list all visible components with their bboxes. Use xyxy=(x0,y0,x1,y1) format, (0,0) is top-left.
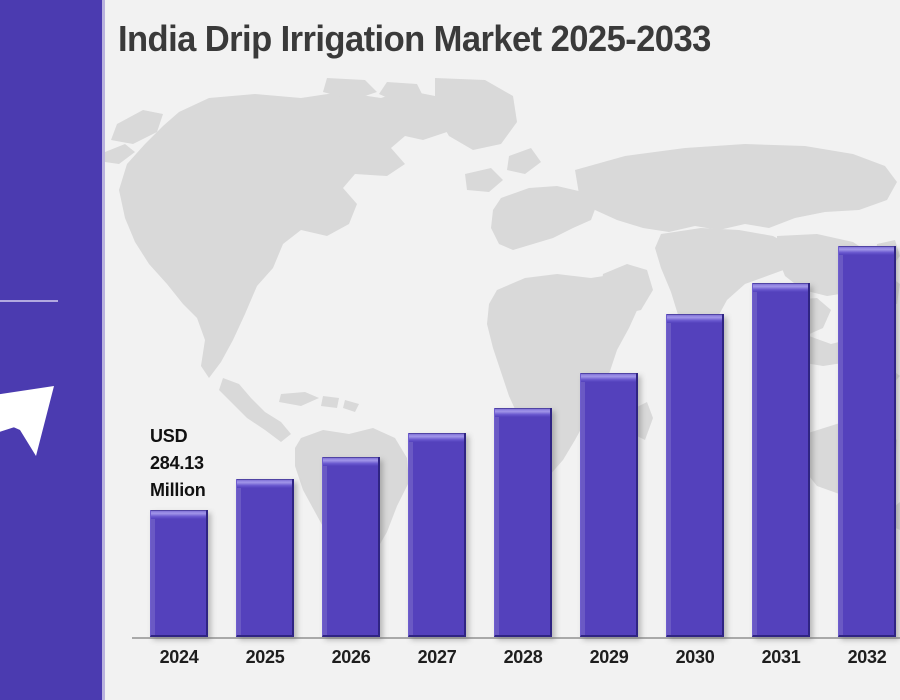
bar-chart: 202420252026202720282029203020312032 xyxy=(0,0,900,700)
bar-2026 xyxy=(322,457,380,637)
x-tick-2031: 2031 xyxy=(742,647,820,668)
bar-left-highlight xyxy=(667,323,671,635)
value-callout: USD 284.13 Million xyxy=(150,423,206,504)
bar-top-bevel xyxy=(839,246,894,255)
bar-left-highlight xyxy=(495,417,499,635)
bar-left-highlight xyxy=(323,466,327,635)
bar-left-highlight xyxy=(151,519,155,635)
x-tick-2027: 2027 xyxy=(398,647,476,668)
bar-2024 xyxy=(150,510,208,637)
growth-arrow-icon xyxy=(0,352,58,472)
x-tick-2030: 2030 xyxy=(656,647,734,668)
bar-top-bevel xyxy=(237,479,292,488)
cagr-sidebar-panel: R % 33) xyxy=(0,0,105,700)
cagr-label: R xyxy=(0,190,105,242)
bar-top-bevel xyxy=(151,510,206,519)
forecast-period-label: 33) xyxy=(0,306,105,332)
x-tick-2025: 2025 xyxy=(226,647,304,668)
bar-2032 xyxy=(838,246,896,637)
bar-left-highlight xyxy=(753,292,757,635)
bar-top-bevel xyxy=(753,283,808,292)
bar-left-highlight xyxy=(839,255,843,635)
callout-line-unit: Million xyxy=(150,477,206,504)
bar-2025 xyxy=(236,479,294,637)
sidebar-divider xyxy=(0,300,58,302)
x-tick-2024: 2024 xyxy=(140,647,218,668)
x-tick-2032: 2032 xyxy=(828,647,900,668)
bar-top-bevel xyxy=(581,373,636,382)
callout-line-value: 284.13 xyxy=(150,450,206,477)
page-title: India Drip Irrigation Market 2025-2033 xyxy=(118,18,711,60)
bar-top-bevel xyxy=(409,433,464,442)
callout-line-currency: USD xyxy=(150,423,206,450)
bar-2030 xyxy=(666,314,724,637)
bar-2031 xyxy=(752,283,810,637)
bar-top-bevel xyxy=(667,314,722,323)
sidebar-right-edge xyxy=(102,0,105,700)
x-axis-line xyxy=(132,637,900,639)
x-tick-2028: 2028 xyxy=(484,647,562,668)
bar-left-highlight xyxy=(237,488,241,635)
bar-2028 xyxy=(494,408,552,637)
bar-left-highlight xyxy=(581,382,585,635)
bar-2029 xyxy=(580,373,638,637)
bar-top-bevel xyxy=(495,408,550,417)
infographic-canvas: India Drip Irrigation Market 2025-2033 2… xyxy=(0,0,900,700)
x-tick-2026: 2026 xyxy=(312,647,390,668)
cagr-value: % xyxy=(0,238,105,290)
x-tick-2029: 2029 xyxy=(570,647,648,668)
bar-top-bevel xyxy=(323,457,378,466)
bar-2027 xyxy=(408,433,466,637)
bar-left-highlight xyxy=(409,442,413,635)
